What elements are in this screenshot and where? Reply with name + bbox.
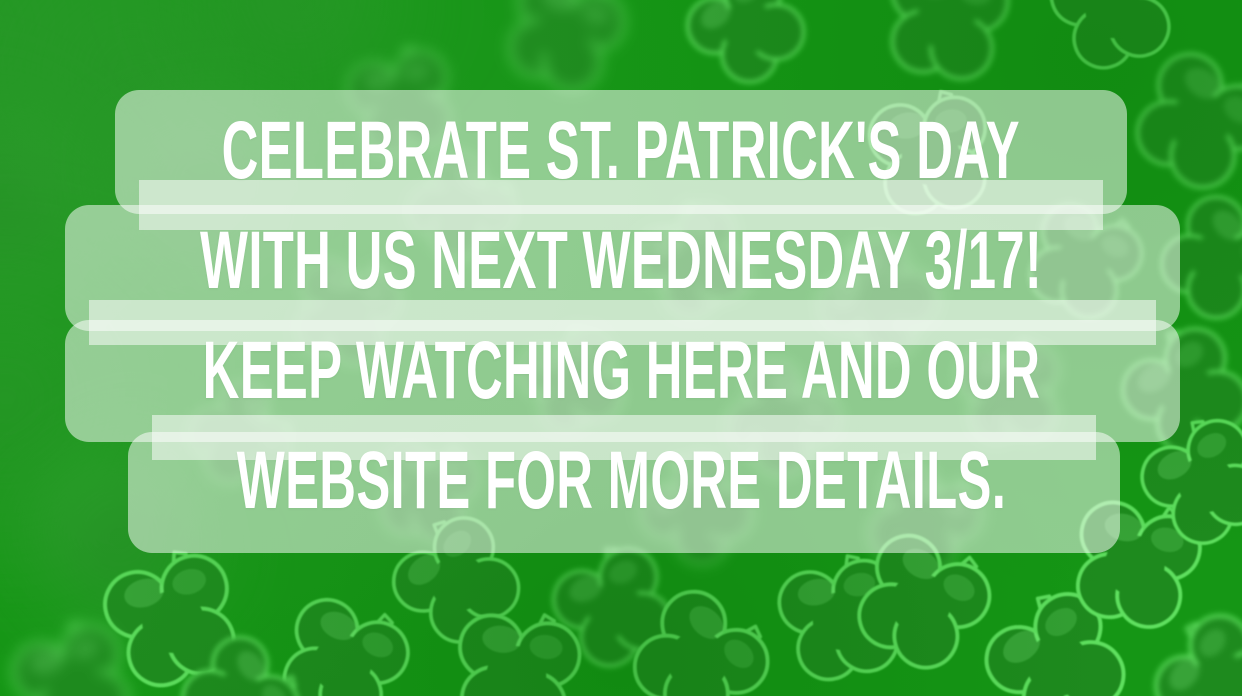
headline-line-2: WITH US NEXT WEDNESDAY 3/17! — [200, 206, 1042, 316]
headline-line-1: CELEBRATE ST. PATRICK'S DAY — [222, 96, 1020, 206]
headline-line-3: KEEP WATCHING HERE AND OUR — [202, 316, 1040, 426]
headline-line-4: WEBSITE FOR MORE DETAILS. — [236, 426, 1005, 536]
announcement-graphic: CELEBRATE ST. PATRICK'S DAY WITH US NEXT… — [0, 0, 1242, 696]
headline-copy: CELEBRATE ST. PATRICK'S DAY WITH US NEXT… — [0, 0, 1242, 696]
